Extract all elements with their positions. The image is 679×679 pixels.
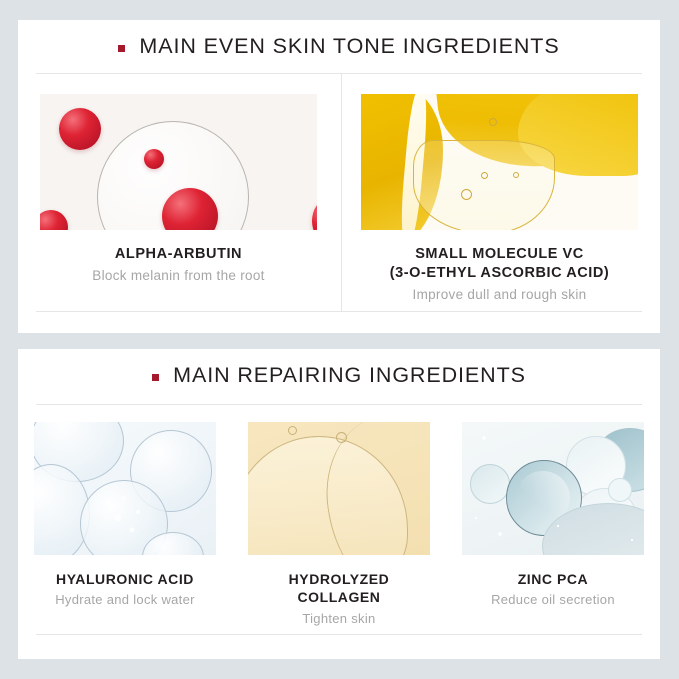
ingredient-name: HYALURONIC ACID <box>55 570 195 588</box>
ingredient-card-small-molecule-vc: SMALL MOLECULE VC (3-O-ETHYL ASCORBIC AC… <box>339 74 660 304</box>
section-even-skin-tone: MAIN EVEN SKIN TONE INGREDIENTS ALPHA-AR… <box>18 20 660 333</box>
ingredient-card-alpha-arbutin: ALPHA-ARBUTIN Block melanin from the roo… <box>18 74 339 304</box>
section-divider-bottom <box>36 634 642 635</box>
ingredient-card-hydrolyzed-collagen: HYDROLYZED COLLAGEN Tighten skin <box>232 405 446 627</box>
oil-pool-shape <box>413 140 555 230</box>
bubble-shape <box>336 432 347 443</box>
ingredient-image-water-bubbles <box>34 422 216 555</box>
square-bullet-icon <box>152 374 159 381</box>
ingredient-name-line1: HYDROLYZED <box>289 570 390 588</box>
square-bullet-icon <box>118 45 125 52</box>
ingredient-name-line2: (3-O-ETHYL ASCORBIC ACID) <box>390 264 609 283</box>
berry-shape <box>144 149 164 169</box>
ingredient-caption: HYALURONIC ACID Hydrate and lock water <box>55 570 195 609</box>
ingredient-description: Reduce oil secretion <box>491 591 615 608</box>
ingredient-description: Block melanin from the root <box>92 267 264 285</box>
ingredient-name: ZINC PCA <box>491 570 615 588</box>
ingredient-caption: ZINC PCA Reduce oil secretion <box>491 570 615 609</box>
section-divider-bottom <box>36 311 642 312</box>
ingredient-caption: ALPHA-ARBUTIN Block melanin from the roo… <box>92 245 264 285</box>
ingredient-name: ALPHA-ARBUTIN <box>92 245 264 264</box>
ingredient-card-list: HYALURONIC ACID Hydrate and lock water H… <box>18 405 660 627</box>
bubble-shape <box>489 118 497 126</box>
ingredient-name-line2: COLLAGEN <box>289 588 390 606</box>
berry-shape <box>312 200 317 230</box>
ingredient-description: Tighten skin <box>289 610 390 627</box>
ingredient-image-teal-oil-bubbles <box>462 422 644 555</box>
section-title: MAIN EVEN SKIN TONE INGREDIENTS <box>139 34 559 59</box>
section-repairing: MAIN REPAIRING INGREDIENTS HYALURONIC AC… <box>18 349 660 659</box>
bubble-shape <box>481 172 488 179</box>
infographic-page: MAIN EVEN SKIN TONE INGREDIENTS ALPHA-AR… <box>0 0 679 679</box>
ingredient-card-list: ALPHA-ARBUTIN Block melanin from the roo… <box>18 74 660 304</box>
ingredient-image-yellow-oil <box>361 94 638 230</box>
bubble-shape <box>513 172 519 178</box>
ingredient-description: Hydrate and lock water <box>55 591 195 608</box>
droplet-speckles <box>462 422 644 555</box>
ingredient-caption: HYDROLYZED COLLAGEN Tighten skin <box>289 570 390 627</box>
ingredient-name-line1: SMALL MOLECULE VC <box>390 245 609 264</box>
section-header-repairing: MAIN REPAIRING INGREDIENTS <box>18 349 660 402</box>
ingredient-image-red-berries <box>40 94 317 230</box>
berry-shape <box>40 210 68 230</box>
bubble-shape <box>461 189 472 200</box>
ingredient-caption: SMALL MOLECULE VC (3-O-ETHYL ASCORBIC AC… <box>390 245 609 304</box>
ingredient-card-hyaluronic-acid: HYALURONIC ACID Hydrate and lock water <box>18 405 232 627</box>
berry-shape <box>59 108 101 150</box>
bubble-shape <box>288 426 297 435</box>
section-header-even-skin-tone: MAIN EVEN SKIN TONE INGREDIENTS <box>18 20 660 73</box>
section-title: MAIN REPAIRING INGREDIENTS <box>173 363 526 388</box>
bubble-cluster-shape <box>96 492 156 540</box>
ingredient-image-collagen-droplet <box>248 422 430 555</box>
ingredient-description: Improve dull and rough skin <box>390 286 609 304</box>
ingredient-card-zinc-pca: ZINC PCA Reduce oil secretion <box>446 405 660 627</box>
